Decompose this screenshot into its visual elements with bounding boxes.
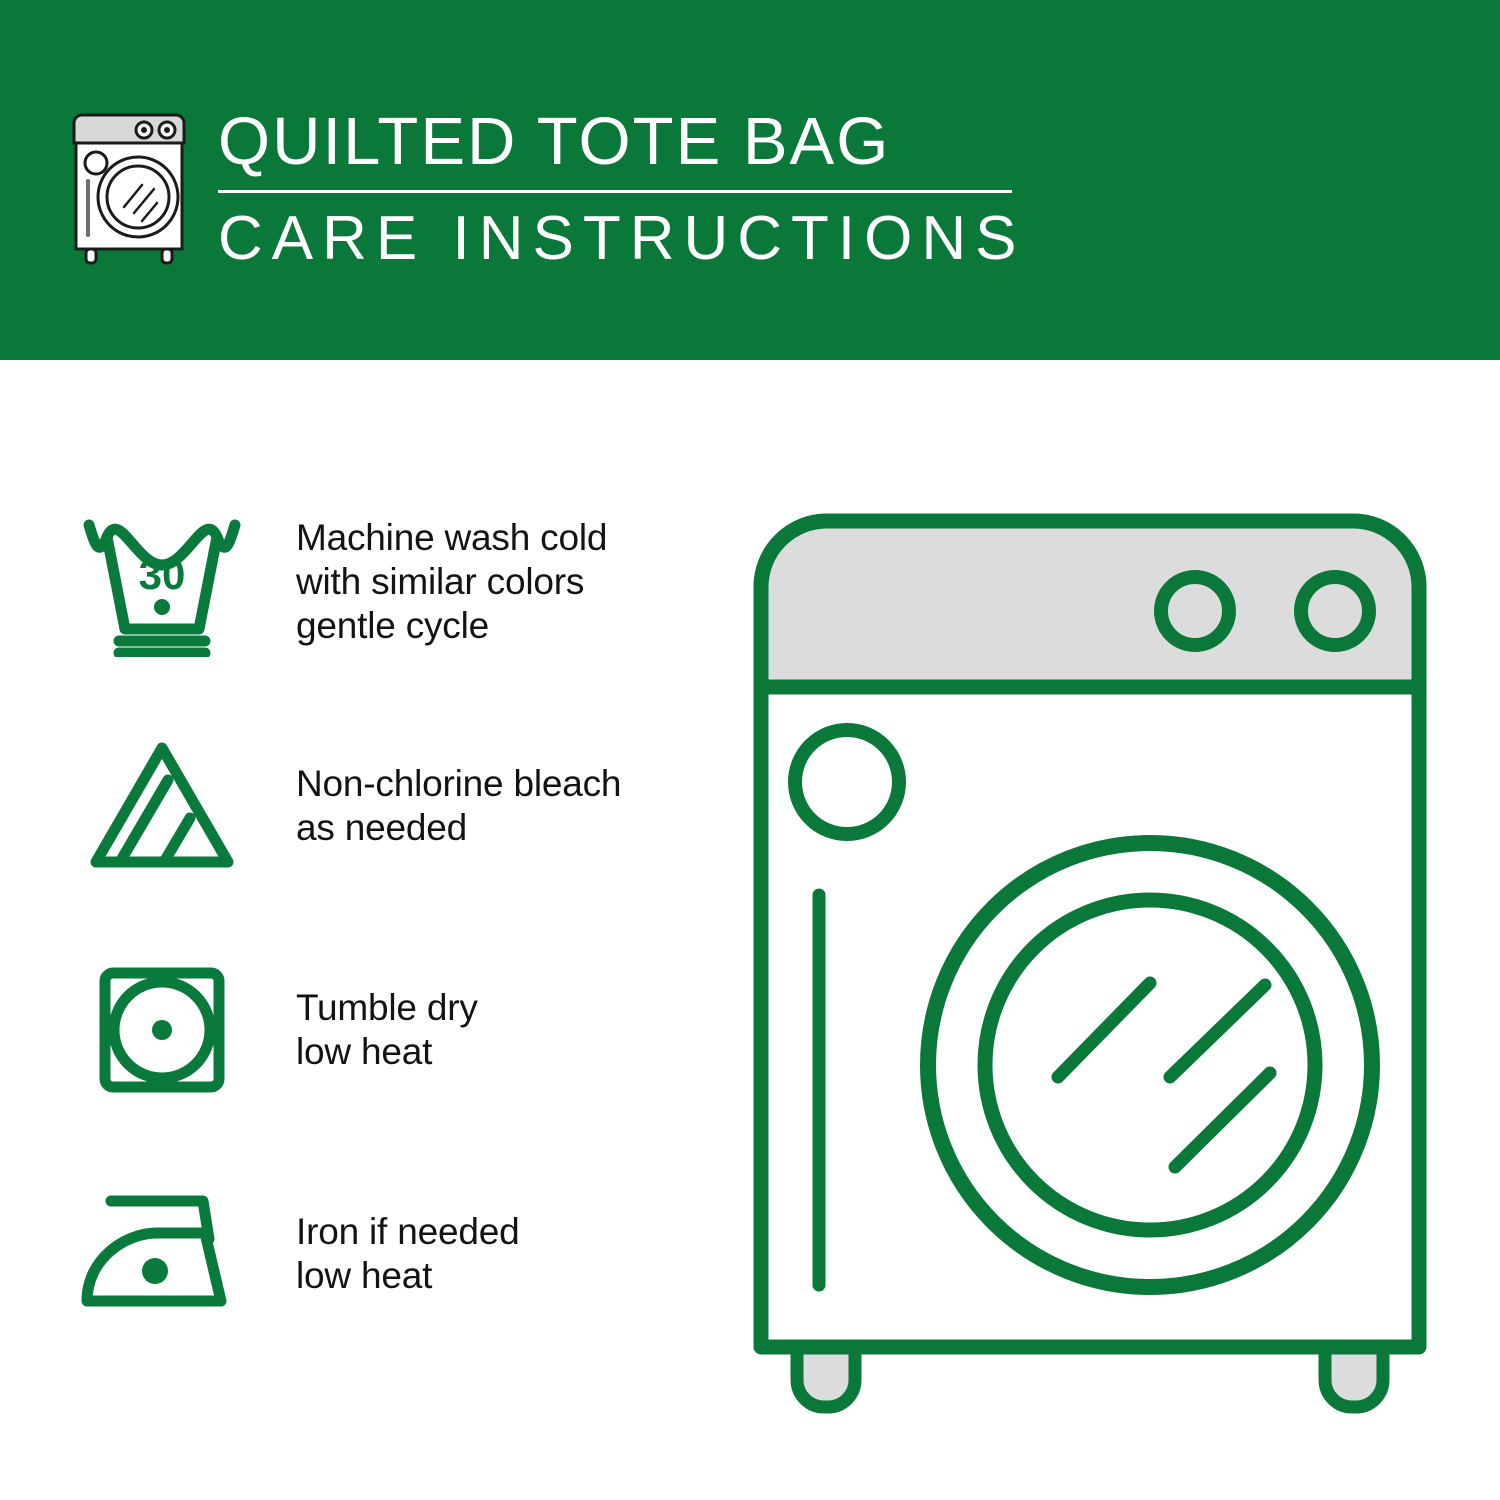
care-row-wash: 30 Machine wash cold with similar colors… — [0, 470, 740, 694]
header-text-block: QUILTED TOTE BAG CARE INSTRUCTIONS — [218, 104, 1018, 273]
title-divider — [218, 190, 1012, 193]
care-instructions-page: QUILTED TOTE BAG CARE INSTRUCTIONS — [0, 0, 1500, 1500]
wash-temperature-label: 30 — [139, 551, 186, 598]
control-panel — [761, 521, 1419, 687]
care-row-dry: Tumble dry low heat — [0, 918, 740, 1142]
iron-low-heat-icon — [62, 1169, 262, 1339]
care-instruction-list: 30 Machine wash cold with similar colors… — [0, 470, 740, 1366]
tumble-dry-low-heat-icon — [62, 945, 262, 1115]
page-subtitle: CARE INSTRUCTIONS — [218, 204, 1018, 273]
wash-tub-30-gentle-icon: 30 — [62, 497, 262, 667]
care-text-bleach: Non-chlorine bleach as needed — [296, 762, 621, 850]
header-banner: QUILTED TOTE BAG CARE INSTRUCTIONS — [0, 0, 1500, 360]
triangle-non-chlorine-bleach-icon — [62, 721, 262, 891]
washing-machine-icon — [62, 105, 202, 265]
care-row-iron: Iron if needed low heat — [0, 1142, 740, 1366]
care-text-iron: Iron if needed low heat — [296, 1210, 519, 1298]
care-text-wash: Machine wash cold with similar colors ge… — [296, 516, 607, 648]
page-title: QUILTED TOTE BAG — [218, 104, 1018, 179]
large-washing-machine-illustration — [735, 495, 1445, 1425]
care-text-dry: Tumble dry low heat — [296, 986, 478, 1074]
care-row-bleach: Non-chlorine bleach as needed — [0, 694, 740, 918]
